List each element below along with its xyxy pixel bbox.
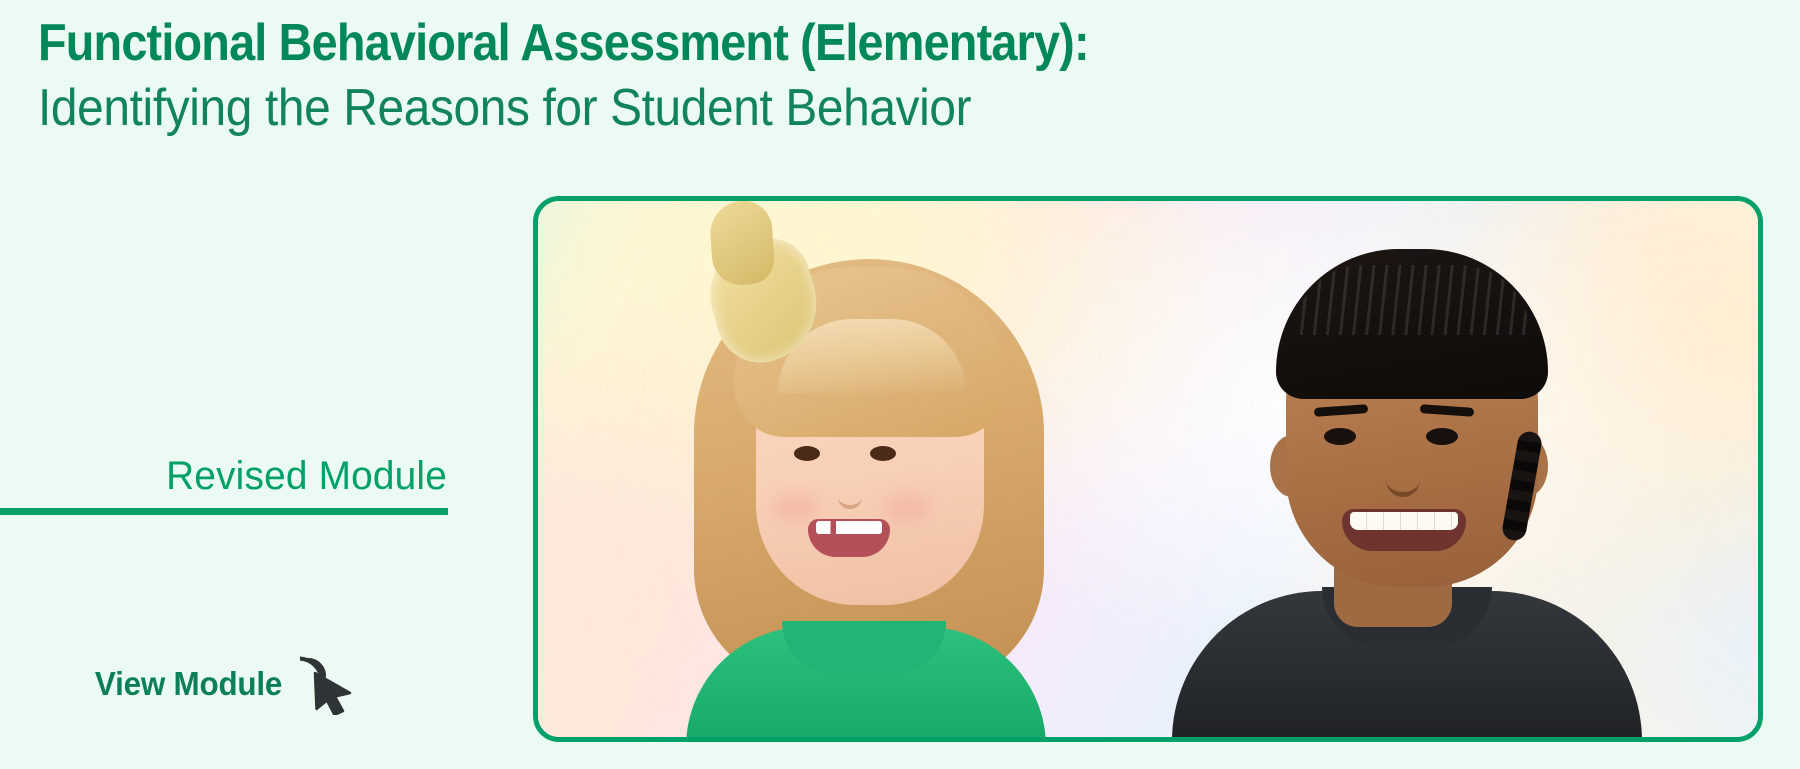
view-module-button[interactable]: View Module	[0, 653, 448, 715]
girl-student-figure	[608, 201, 1128, 737]
course-promo-banner: Functional Behavioral Assessment (Elemen…	[0, 0, 1800, 769]
click-cursor-icon	[300, 653, 358, 715]
accent-divider	[0, 508, 448, 515]
hero-photo	[538, 201, 1758, 737]
hero-photo-card	[533, 196, 1763, 742]
revised-module-label: Revised Module	[13, 455, 448, 498]
view-module-label: View Module	[95, 665, 282, 703]
revised-module-block: Revised Module	[0, 455, 448, 515]
page-title: Functional Behavioral Assessment (Elemen…	[38, 14, 1338, 141]
title-primary-line: Functional Behavioral Assessment (Elemen…	[38, 14, 1208, 73]
boy-student-figure	[1138, 201, 1698, 737]
title-secondary-line: Identifying the Reasons for Student Beha…	[38, 77, 1234, 140]
